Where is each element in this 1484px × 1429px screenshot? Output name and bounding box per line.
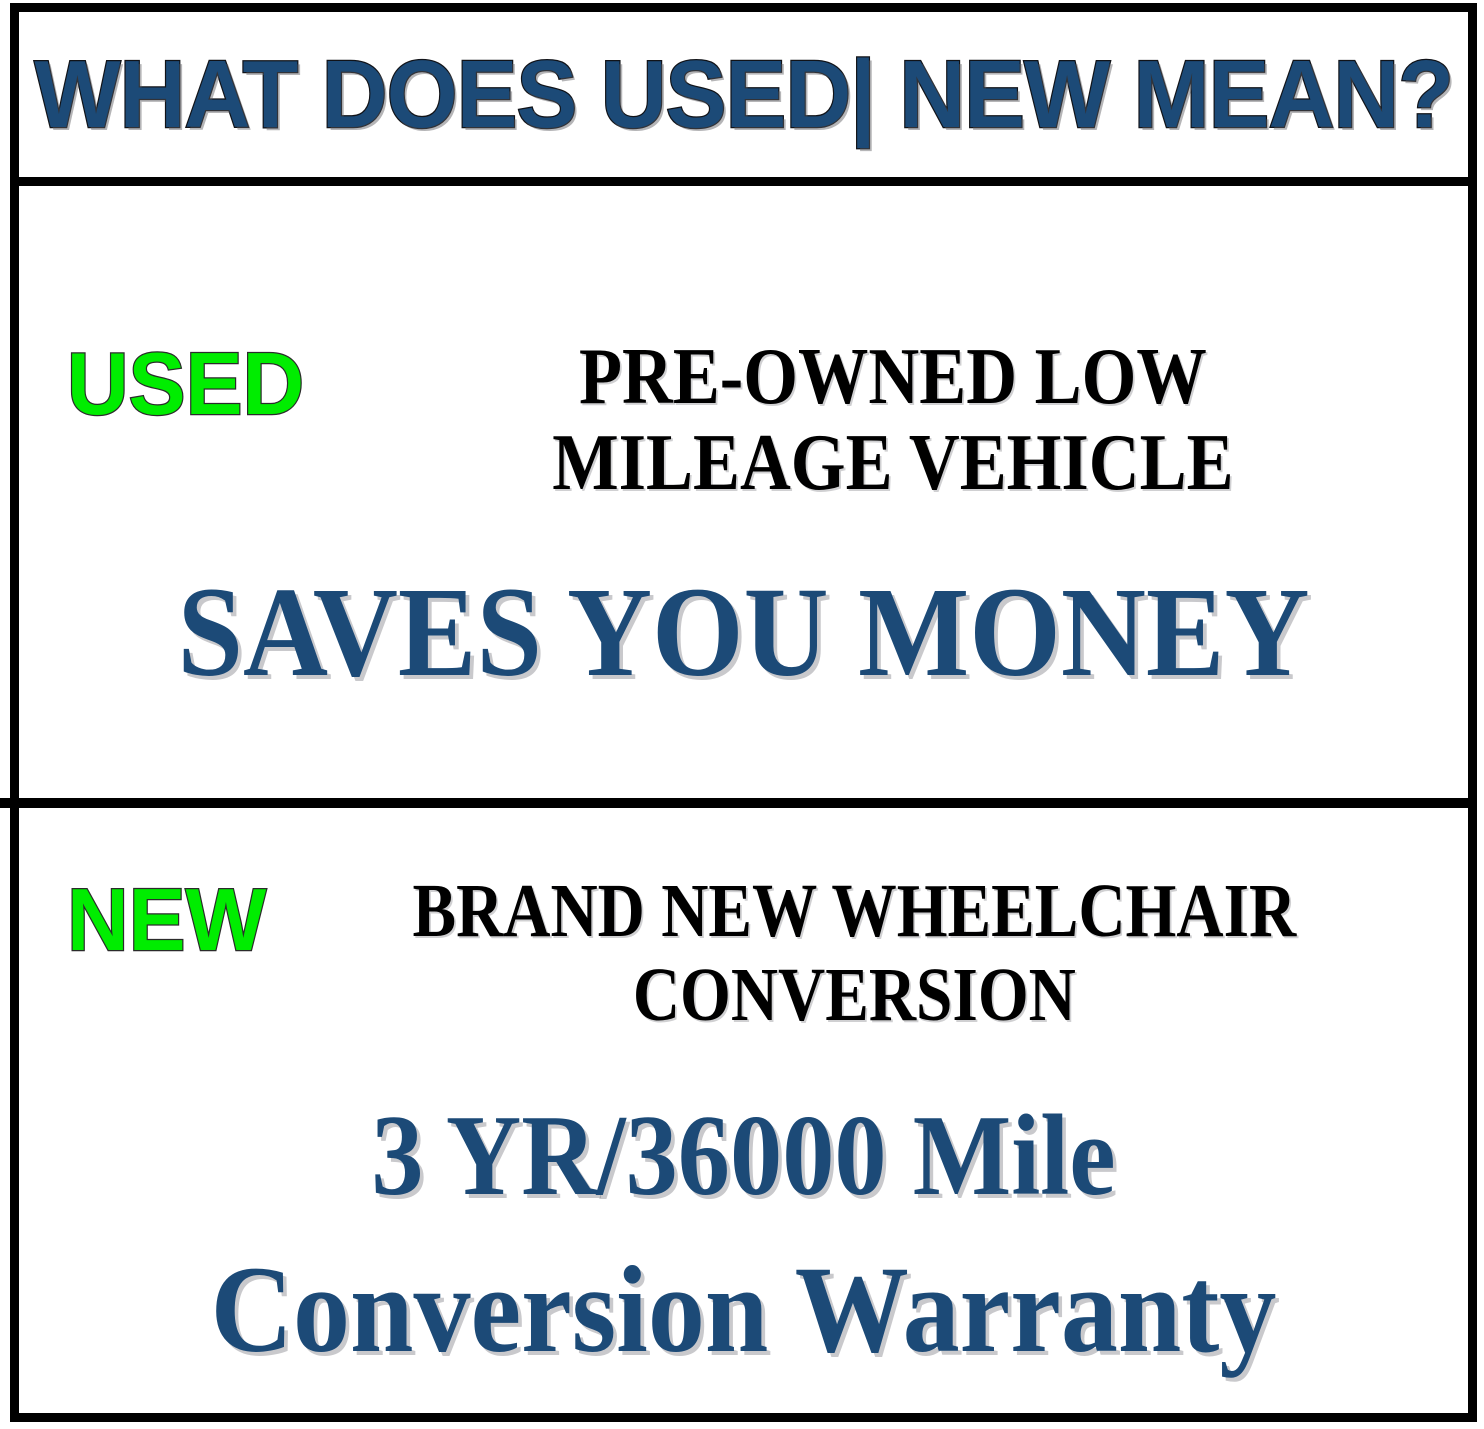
used-description: PRE-OWNED LOW MILEAGE VEHICLE xyxy=(381,334,1399,507)
header-band: WHAT DOES USED| NEW MEAN? xyxy=(19,12,1468,177)
used-tagline: SAVES YOU MONEY xyxy=(77,568,1410,696)
warranty-term-line: 3 YR/36000 Mile xyxy=(91,1098,1395,1214)
poster-title: WHAT DOES USED| NEW MEAN? xyxy=(34,47,1453,143)
header-divider-rule xyxy=(10,177,1477,186)
new-section: NEW BRAND NEW WHEELCHAIR CONVERSION 3 YR… xyxy=(19,808,1468,1413)
new-badge: NEW xyxy=(67,870,266,964)
used-headline-row: USED PRE-OWNED LOW MILEAGE VEHICLE xyxy=(19,334,1468,507)
section-divider-rule xyxy=(0,798,1477,808)
new-headline-row: NEW BRAND NEW WHEELCHAIR CONVERSION xyxy=(19,870,1468,1037)
used-badge: USED xyxy=(67,334,304,428)
poster-root: WHAT DOES USED| NEW MEAN? USED PRE-OWNED… xyxy=(0,0,1484,1429)
warranty-title-line: Conversion Warranty xyxy=(77,1248,1410,1372)
new-description: BRAND NEW WHEELCHAIR CONVERSION xyxy=(356,870,1384,1037)
used-section: USED PRE-OWNED LOW MILEAGE VEHICLE SAVES… xyxy=(19,186,1468,798)
